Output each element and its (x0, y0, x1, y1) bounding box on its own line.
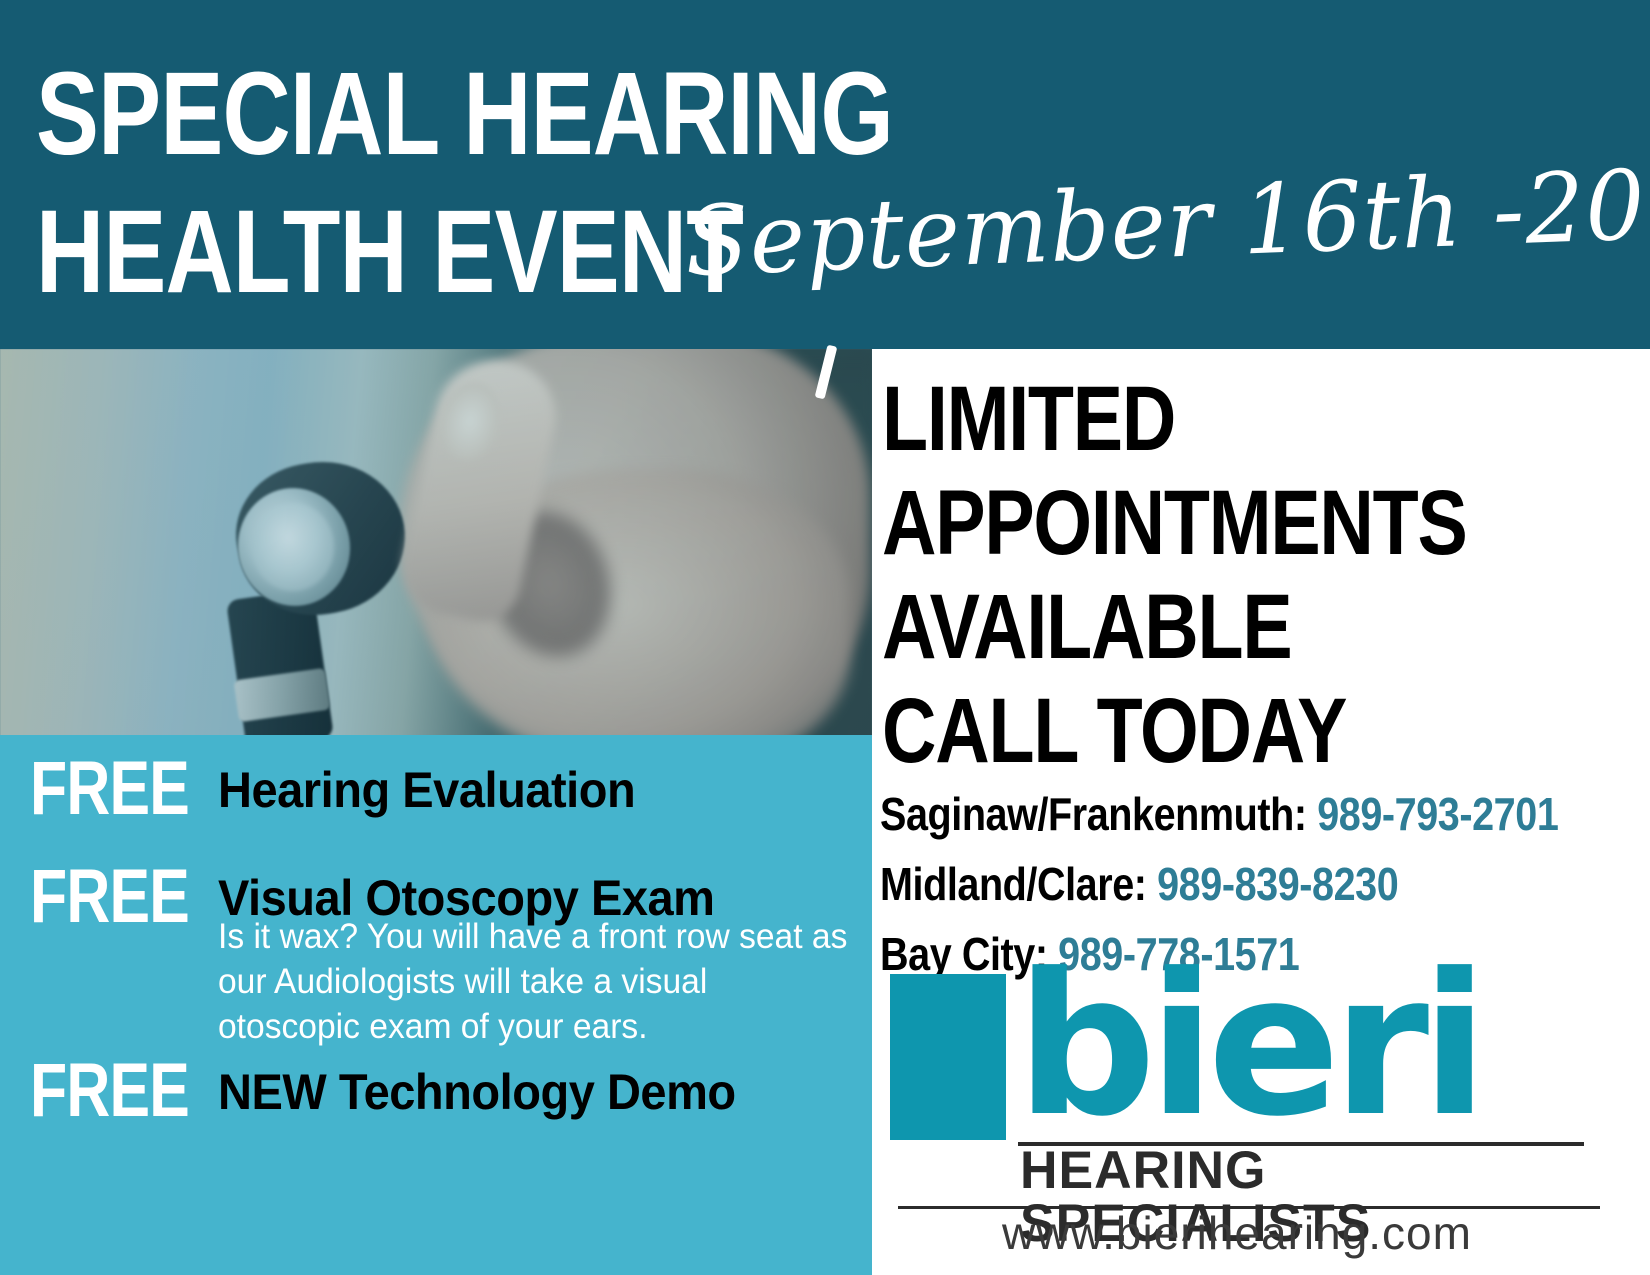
phone-row-saginaw[interactable]: Saginaw/Frankenmuth: 989-793-2701 (880, 791, 1558, 837)
page-title-line1: SPECIAL HEARING (36, 55, 893, 173)
call-to-action-panel: LIMITED APPOINTMENTS AVAILABLE CALL TODA… (872, 349, 1650, 1275)
offer-badge-3: FREE (30, 1053, 189, 1129)
phone-number-saginaw[interactable]: 989-793-2701 (1317, 788, 1558, 840)
website-url[interactable]: www.bierihearing.com (1002, 1210, 1472, 1256)
offer-badge-2: FREE (30, 859, 189, 935)
logo-wordmark: bieri (1016, 948, 1480, 1144)
bieri-logo[interactable]: bieri HEARING SPECIALISTS www.bieriheari… (890, 974, 1590, 1234)
photo-teal-tint (0, 349, 872, 737)
hearing-event-flyer: SPECIAL HEARING HEALTH EVENT September 1… (0, 0, 1650, 1275)
cta-line-limited: LIMITED (882, 373, 1175, 465)
offer-badge-1: FREE (30, 751, 189, 827)
phone-row-midland[interactable]: Midland/Clare: 989-839-8230 (880, 861, 1398, 907)
header-banner: SPECIAL HEARING HEALTH EVENT September 1… (0, 0, 1650, 367)
phone-label-midland: Midland/Clare: (880, 858, 1147, 910)
sound-wave-icon (890, 974, 1006, 1140)
otoscope-ear-exam-photo (0, 349, 872, 737)
offer-description-2: Is it wax? You will have a front row sea… (218, 915, 852, 1049)
cta-line-available: AVAILABLE (882, 581, 1291, 673)
cta-line-call-today: CALL TODAY (882, 685, 1346, 777)
phone-label-saginaw: Saginaw/Frankenmuth: (880, 788, 1307, 840)
cta-line-appointments: APPOINTMENTS (882, 477, 1467, 569)
page-title-line2: HEALTH EVENT (36, 193, 743, 311)
offer-title-3: NEW Technology Demo (218, 1067, 736, 1117)
phone-number-midland[interactable]: 989-839-8230 (1157, 858, 1398, 910)
offer-title-1: Hearing Evaluation (218, 765, 635, 815)
